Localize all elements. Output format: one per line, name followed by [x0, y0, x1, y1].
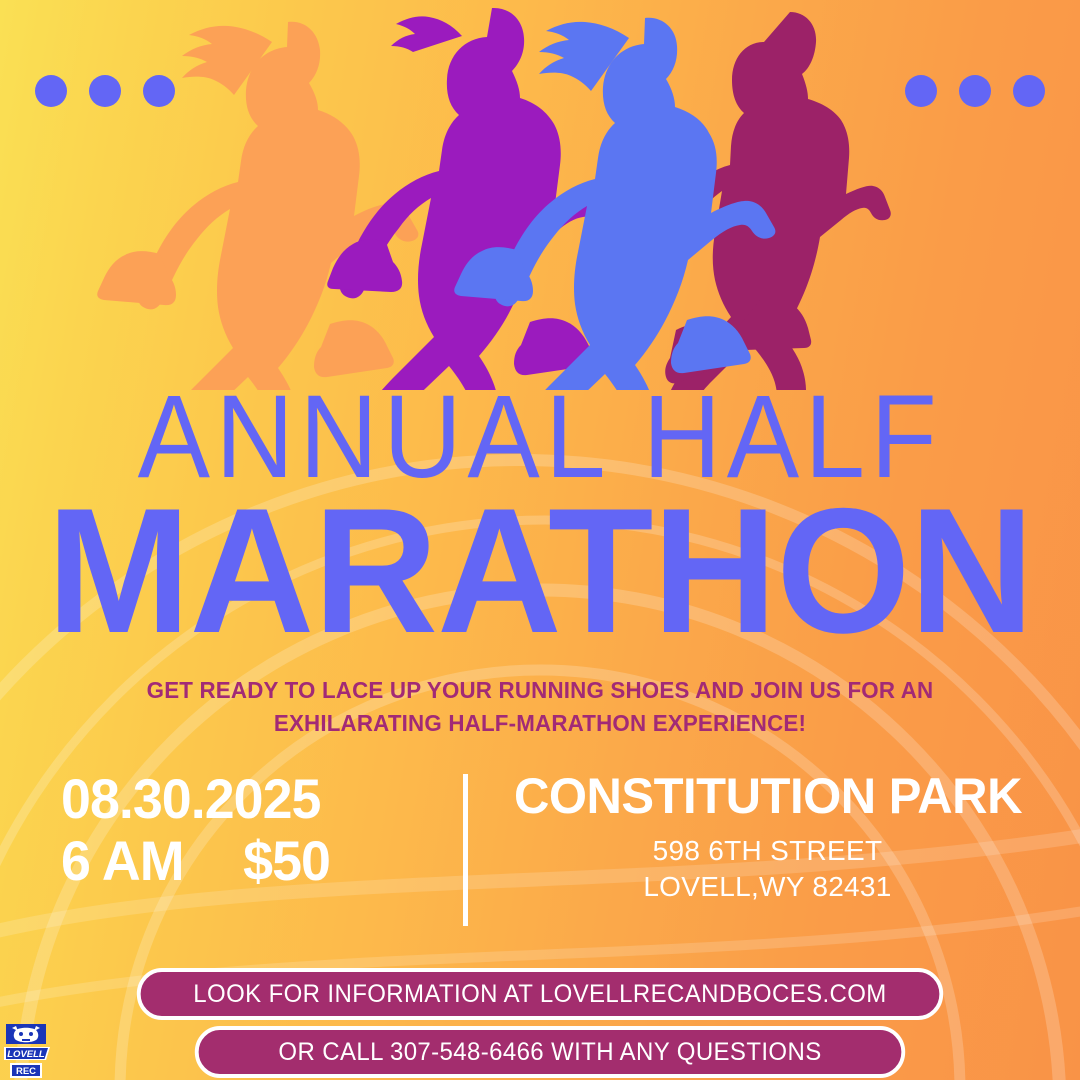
event-datetime-price: 08.30.2025 6 AM $50 [43, 770, 443, 893]
runner-silhouettes [0, 0, 1080, 390]
event-time: 6 AM [61, 829, 184, 893]
logo-text-rec: REC [16, 1066, 36, 1077]
venue-city-state-zip: LOVELL,WY 82431 [498, 869, 1038, 905]
subtitle-line-1: GET READY TO LACE UP YOUR RUNNING SHOES … [113, 674, 968, 707]
headline-line-2: MARATHON [16, 482, 1064, 660]
runner-silhouette-orange [97, 22, 418, 390]
vertical-divider [463, 774, 468, 926]
event-time-price-row: 6 AM $50 [61, 829, 428, 893]
lovell-rec-logo: LOVELL REC [2, 1022, 54, 1080]
cta-pill-phone[interactable]: OR CALL 307-548-6466 WITH ANY QUESTIONS [195, 1026, 905, 1078]
event-date: 08.30.2025 [61, 770, 428, 829]
event-venue: CONSTITUTION PARK 598 6TH STREET LOVELL,… [498, 770, 1038, 905]
subtitle-block: GET READY TO LACE UP YOUR RUNNING SHOES … [113, 674, 968, 741]
logo-text-lovell: LOVELL [7, 1049, 45, 1060]
event-price: $50 [243, 829, 330, 893]
marathon-poster: ANNUAL HALF MARATHON GET READY TO LACE U… [0, 0, 1080, 1080]
venue-street: 598 6TH STREET [498, 833, 1038, 869]
event-info-band: 08.30.2025 6 AM $50 CONSTITUTION PARK 59… [0, 770, 1080, 926]
cta-pill-website[interactable]: LOOK FOR INFORMATION AT LOVELLRECANDBOCE… [137, 968, 943, 1020]
venue-name: CONSTITUTION PARK [503, 770, 1032, 823]
subtitle-line-2: EXHILARATING HALF-MARATHON EXPERIENCE! [113, 707, 968, 740]
